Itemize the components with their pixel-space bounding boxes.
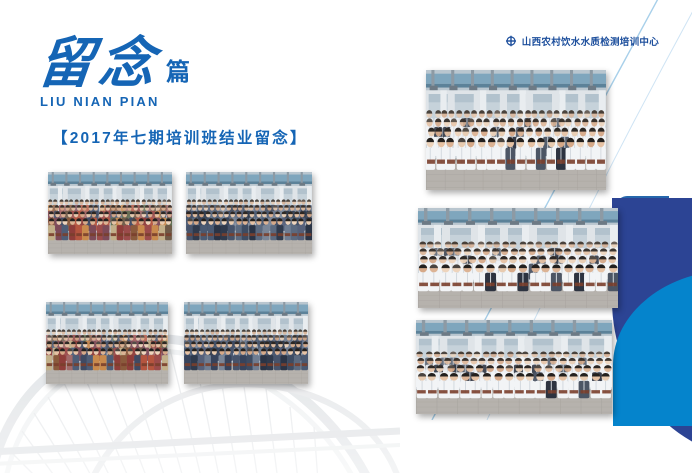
page-title-calligraphy: 留念 [35,36,163,92]
photo-group-left-bottom-1 [46,302,168,384]
photo-group-left-top-2 [186,172,312,254]
page-title-suffix: 篇 [162,58,190,92]
page-title-block: 留念 篇 LIU NIAN PIAN [38,34,190,109]
photo-group-right-top [426,70,606,190]
brochure-page: 山西农村饮水水质检测培训中心 留念 篇 LIU NIAN PIAN 【2017年… [0,0,692,473]
decor-navy-blob [612,198,692,460]
photo-group-left-bottom-2 [184,302,308,384]
circular-emblem-icon [505,35,517,47]
decor-lightblue-blob [613,270,692,426]
decor-blue-accent-upper [617,196,669,316]
org-name-label: 山西农村饮水水质检测培训中心 [522,34,659,48]
org-header: 山西农村饮水水质检测培训中心 [505,34,659,48]
photo-group-right-bottom [416,320,612,414]
page-title-pinyin: LIU NIAN PIAN [40,94,190,109]
photo-group-right-middle [418,208,618,308]
page-title-row: 留念 篇 [38,34,190,92]
page-subtitle: 【2017年七期培训班结业留念】 [52,126,308,148]
photo-group-left-top-1 [48,172,172,254]
